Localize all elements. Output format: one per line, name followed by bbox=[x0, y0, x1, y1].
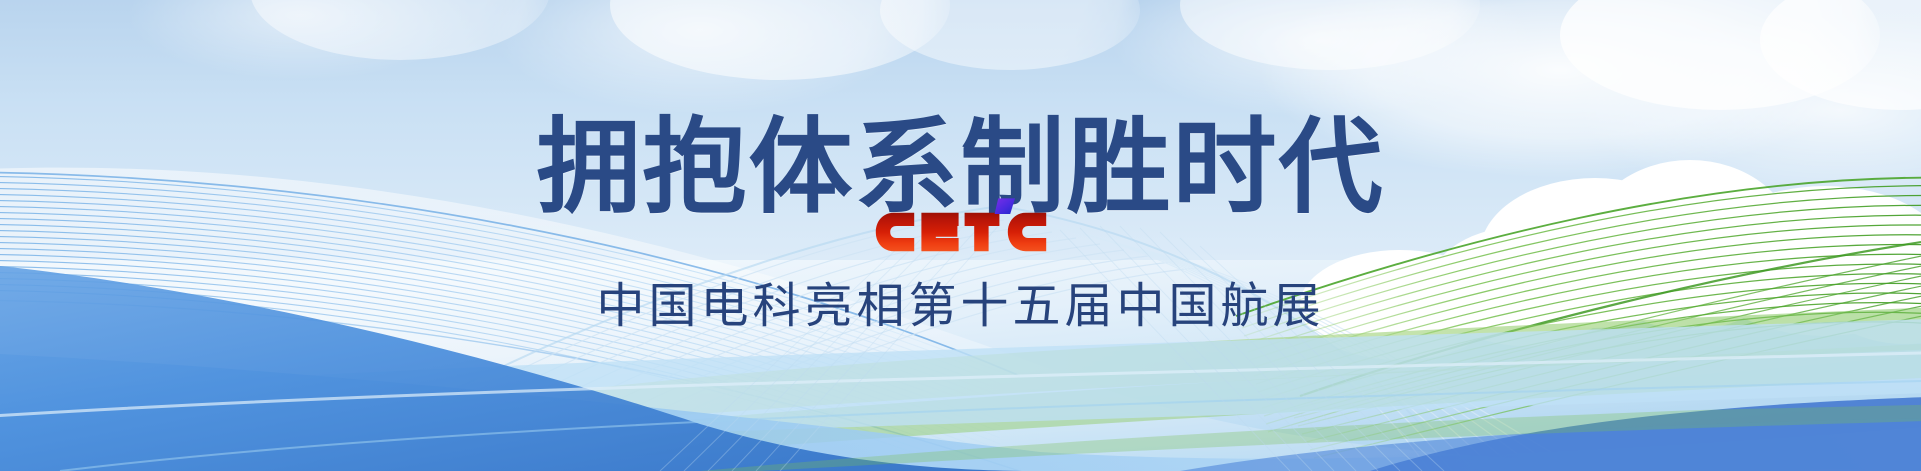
banner-subtitle: 中国电科亮相第十五届中国航展 bbox=[0, 279, 1921, 334]
logo-letter-c1 bbox=[875, 213, 913, 251]
cetc-logo bbox=[0, 196, 1921, 268]
logo-letter-e bbox=[921, 213, 958, 251]
logo-letter-c2 bbox=[1007, 213, 1045, 251]
logo-letter-t bbox=[964, 213, 999, 251]
cetc-airshow-banner: 拥抱体系制胜时代 bbox=[0, 0, 1921, 471]
cetc-logo-mark bbox=[871, 196, 1051, 268]
logo-accent-parallelogram bbox=[994, 198, 1014, 214]
